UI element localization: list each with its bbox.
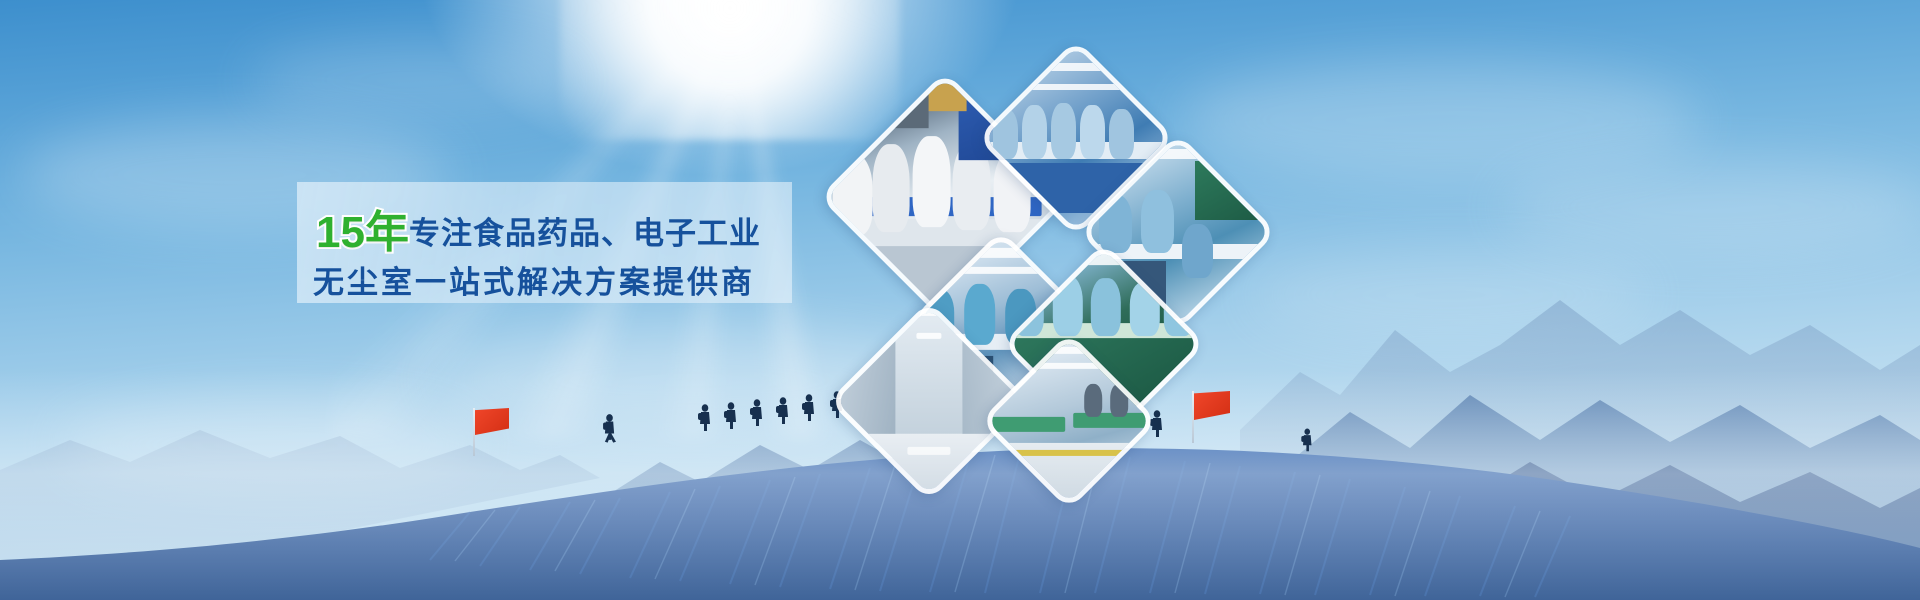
hiker (776, 397, 788, 424)
years-badge: 15年 (316, 208, 409, 257)
headline-line-1: 15年专注食品药品、电子工业 (297, 208, 792, 255)
hiker (1301, 429, 1311, 452)
hiker (698, 404, 710, 431)
hiker (750, 399, 762, 426)
headline-line-2: 无尘室一站式解决方案提供商 (297, 257, 792, 302)
headline-line-1-text: 专注食品药品、电子工业 (409, 216, 761, 251)
hiker (802, 394, 814, 421)
hiker (603, 414, 616, 443)
photo-collage (836, 78, 1276, 470)
headline-panel: 15年专注食品药品、电子工业 无尘室一站式解决方案提供商 (297, 182, 792, 303)
hiker (724, 402, 736, 429)
hero-banner: 15年专注食品药品、电子工业 无尘室一站式解决方案提供商 (0, 0, 1920, 600)
headline-line-2-text: 无尘室一站式解决方案提供商 (313, 265, 755, 300)
